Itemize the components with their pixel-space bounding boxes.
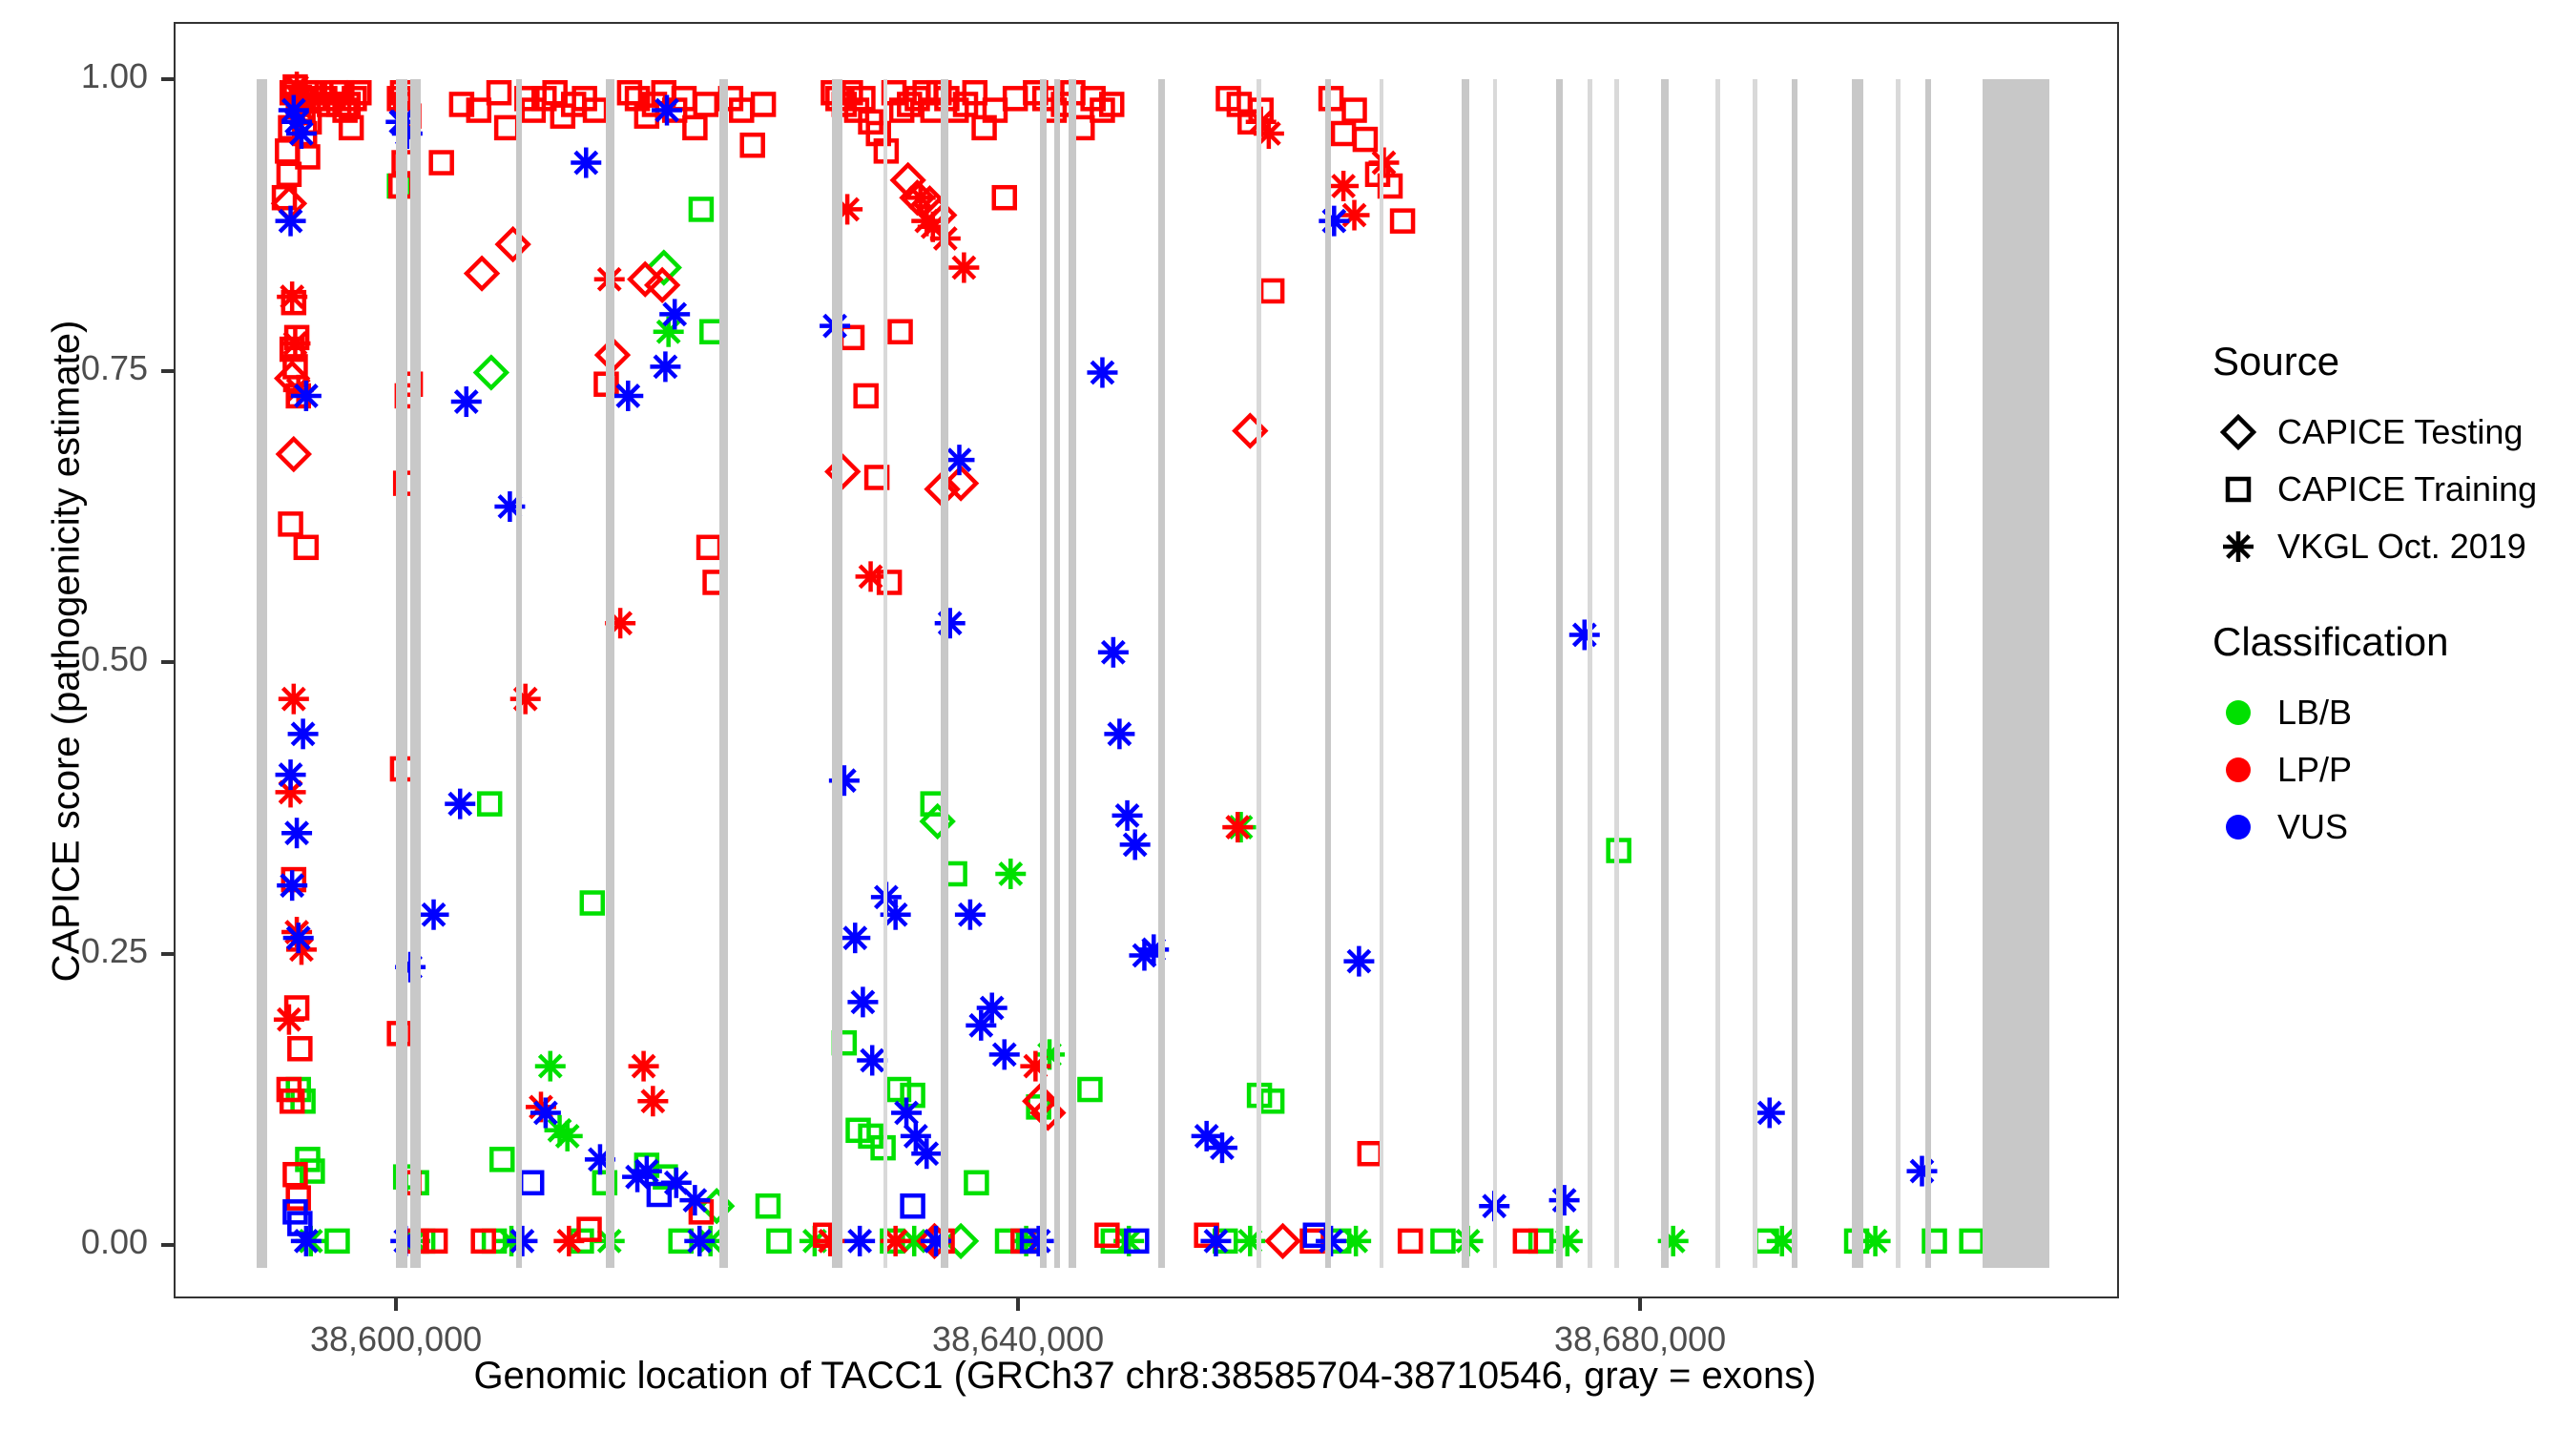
data-point-asterisk <box>1087 358 1117 388</box>
data-point-asterisk <box>1120 829 1151 860</box>
legend-item-source[interactable]: VKGL Oct. 2019 <box>2209 520 2571 573</box>
data-point-square <box>684 117 705 138</box>
data-point-asterisk <box>844 1226 875 1256</box>
exon-gridline <box>1588 79 1592 1268</box>
data-point-asterisk <box>1222 812 1253 842</box>
data-point-asterisk <box>1207 1132 1237 1163</box>
data-point-asterisk <box>637 1086 668 1116</box>
legend-classification-items: LB/BLP/PVUS <box>2209 686 2571 854</box>
data-point-asterisk <box>989 1039 1020 1069</box>
exon-bar <box>832 79 842 1268</box>
data-point-asterisk <box>944 445 974 475</box>
legend-classification-label: VUS <box>2277 807 2348 847</box>
y-axis-label: CAPICE score (pathogenicity estimate) <box>46 89 89 1214</box>
data-point-asterisk <box>847 986 878 1017</box>
exon-bar <box>396 79 406 1268</box>
legend-swatch <box>2226 815 2251 840</box>
exon-gridline <box>1257 79 1261 1268</box>
data-point-asterisk <box>948 253 979 283</box>
legend-swatch <box>2226 700 2251 725</box>
data-point-square <box>1344 100 1365 121</box>
exon-bar <box>1792 79 1798 1268</box>
data-point-asterisk <box>507 1226 537 1256</box>
asterisk-icon <box>2212 520 2265 573</box>
data-point-asterisk <box>1104 718 1134 749</box>
data-point-asterisk <box>1860 1226 1891 1256</box>
x-tick-label: 38,600,000 <box>243 1319 549 1359</box>
data-point-square <box>1392 211 1413 232</box>
legend-swatch <box>2226 757 2251 782</box>
exon-bar <box>257 79 267 1268</box>
exon-bar <box>1983 79 2049 1268</box>
data-point-square <box>289 1038 310 1059</box>
data-point-square <box>491 1149 512 1170</box>
x-tick-label: 38,680,000 <box>1487 1319 1793 1359</box>
y-tick-mark <box>161 1243 174 1247</box>
data-point-square <box>326 1231 347 1252</box>
data-point-asterisk <box>1343 946 1374 977</box>
data-point-square <box>1079 1079 1100 1100</box>
data-marks-layer <box>176 24 2117 1296</box>
data-point-square <box>903 1195 924 1216</box>
legend-source-label: CAPICE Training <box>2277 469 2537 509</box>
x-tick-label: 38,640,000 <box>865 1319 1171 1359</box>
legend-item-classification[interactable]: VUS <box>2209 800 2571 854</box>
data-point-asterisk <box>276 759 306 790</box>
data-point-asterisk <box>286 118 317 149</box>
data-point-diamond <box>476 358 507 388</box>
data-point-asterisk <box>1316 1226 1346 1256</box>
legend-item-classification[interactable]: LP/P <box>2209 743 2571 797</box>
legend-source-items: CAPICE TestingCAPICE TrainingVKGL Oct. 2… <box>2209 405 2571 573</box>
data-point-asterisk <box>291 381 322 411</box>
exon-bar <box>1852 79 1862 1268</box>
data-point-asterisk <box>274 1005 304 1035</box>
y-tick-label: 0.00 <box>5 1222 148 1262</box>
data-point-asterisk <box>1328 171 1359 201</box>
data-point-square <box>768 1231 789 1252</box>
data-point-asterisk <box>1549 1185 1580 1215</box>
data-point-asterisk <box>650 351 680 382</box>
exon-gridline <box>1896 79 1901 1268</box>
y-tick-mark <box>161 369 174 373</box>
data-point-square <box>1515 1231 1536 1252</box>
data-point-asterisk <box>279 684 309 715</box>
exon-gridline <box>1380 79 1384 1268</box>
square-icon <box>2212 463 2265 516</box>
data-point-asterisk <box>571 148 601 178</box>
data-point-square <box>488 82 509 103</box>
legend-classification-label: LB/B <box>2277 693 2352 733</box>
exon-bar <box>1040 79 1047 1268</box>
data-point-square <box>1005 88 1026 109</box>
data-point-square <box>698 537 719 558</box>
data-point-square <box>1261 280 1282 301</box>
data-point-diamond <box>498 229 529 259</box>
asterisk-icon <box>2209 520 2268 573</box>
data-point-diamond <box>467 259 497 289</box>
data-point-asterisk <box>840 923 870 953</box>
data-point-square <box>1333 123 1354 144</box>
legend-classification-title: Classification <box>2212 619 2571 665</box>
data-point-asterisk <box>280 328 310 359</box>
data-point-asterisk <box>288 718 319 749</box>
data-point-square <box>619 82 640 103</box>
x-tick-mark <box>1638 1298 1642 1311</box>
data-point-square <box>1355 129 1376 150</box>
data-point-square <box>582 893 603 914</box>
data-point-asterisk <box>2223 531 2254 562</box>
data-point-asterisk <box>1755 1097 1785 1128</box>
data-point-asterisk <box>553 1226 584 1256</box>
exon-bar <box>1925 79 1932 1268</box>
data-point-diamond <box>279 439 309 469</box>
data-point-asterisk <box>277 870 307 901</box>
exon-bar <box>1556 79 1563 1268</box>
y-tick-mark <box>161 952 174 956</box>
exon-bar <box>606 79 613 1268</box>
data-point-square <box>856 385 877 406</box>
data-point-asterisk <box>905 182 936 213</box>
data-point-diamond <box>2223 417 2254 447</box>
data-point-asterisk <box>911 1138 942 1169</box>
exon-bar <box>1661 79 1669 1268</box>
exon-bar <box>1054 79 1061 1268</box>
data-point-diamond <box>1268 1226 1298 1256</box>
data-point-asterisk <box>291 1226 322 1256</box>
data-point-asterisk <box>552 1121 583 1151</box>
data-point-asterisk <box>1098 637 1129 668</box>
data-point-square <box>1609 840 1630 861</box>
y-tick-mark <box>161 660 174 664</box>
data-point-asterisk <box>652 95 682 126</box>
data-point-square <box>753 93 774 114</box>
x-tick-mark <box>1016 1298 1020 1311</box>
data-point-asterisk <box>445 789 475 819</box>
legend-item-source[interactable]: CAPICE Testing <box>2209 405 2571 459</box>
data-point-asterisk <box>419 900 449 930</box>
data-point-square <box>691 198 712 219</box>
data-point-square <box>1400 1231 1421 1252</box>
data-point-asterisk <box>1906 1156 1937 1187</box>
data-point-square <box>2228 479 2249 500</box>
exon-gridline <box>1753 79 1757 1268</box>
color-dot-icon <box>2209 815 2268 840</box>
legend-source-title: Source <box>2212 339 2571 384</box>
data-point-square <box>479 794 500 815</box>
square-icon <box>2209 463 2268 516</box>
x-tick-mark <box>394 1298 398 1311</box>
data-point-square <box>890 321 911 342</box>
data-point-asterisk <box>659 299 690 329</box>
data-point-square <box>758 1195 779 1216</box>
plot-panel <box>174 22 2119 1298</box>
exon-gridline <box>883 79 888 1268</box>
data-point-square <box>296 537 317 558</box>
exon-bar <box>1325 79 1332 1268</box>
plot-root: 0.000.250.500.751.00 38,600,00038,640,00… <box>0 0 2576 1431</box>
exon-gridline <box>1493 79 1498 1268</box>
color-dot-icon <box>2209 700 2268 725</box>
data-point-asterisk <box>856 561 886 591</box>
legend-source-label: VKGL Oct. 2019 <box>2277 527 2526 567</box>
data-point-square <box>742 135 763 156</box>
legend-item-classification[interactable]: LB/B <box>2209 686 2571 739</box>
data-point-square <box>1962 1231 1983 1252</box>
y-tick-mark <box>161 77 174 81</box>
data-point-square <box>966 1172 987 1193</box>
data-point-asterisk <box>1340 200 1370 231</box>
exon-bar <box>516 79 523 1268</box>
data-point-square <box>1360 1143 1381 1164</box>
data-point-square <box>1432 1231 1453 1252</box>
legend-classification-label: LP/P <box>2277 750 2352 790</box>
exon-bar <box>1069 79 1076 1268</box>
exon-gridline <box>1614 79 1619 1268</box>
data-point-asterisk <box>1200 1226 1231 1256</box>
data-point-asterisk <box>530 1097 561 1128</box>
data-point-square <box>496 117 517 138</box>
data-point-asterisk <box>1112 800 1143 831</box>
data-point-square <box>994 187 1015 208</box>
data-point-asterisk <box>995 859 1026 889</box>
data-point-asterisk <box>977 992 1008 1023</box>
legend-source-label: CAPICE Testing <box>2277 412 2523 452</box>
exon-bar <box>410 79 421 1268</box>
data-point-square <box>1320 88 1341 109</box>
exon-bar <box>719 79 727 1268</box>
data-point-square <box>521 1172 542 1193</box>
data-point-asterisk <box>629 1051 659 1082</box>
data-point-square <box>696 93 717 114</box>
diamond-icon <box>2209 405 2268 459</box>
legend-item-source[interactable]: CAPICE Training <box>2209 463 2571 516</box>
data-point-asterisk <box>535 1051 566 1082</box>
legend: Source CAPICE TestingCAPICE TrainingVKGL… <box>2209 339 2571 858</box>
data-point-square <box>888 1079 909 1100</box>
data-point-square <box>431 153 452 174</box>
data-point-asterisk <box>281 818 312 848</box>
x-axis-label: Genomic location of TACC1 (GRCh37 chr8:3… <box>0 1355 2290 1398</box>
color-dot-icon <box>2209 757 2268 782</box>
data-point-asterisk <box>684 1226 715 1256</box>
exon-bar <box>1158 79 1165 1268</box>
exon-bar <box>1462 79 1469 1268</box>
data-point-asterisk <box>276 206 306 237</box>
plot-area <box>176 24 2117 1296</box>
data-point-asterisk <box>510 684 541 715</box>
data-point-asterisk <box>1319 206 1349 237</box>
data-point-asterisk <box>679 1185 710 1215</box>
data-point-asterisk <box>935 608 966 638</box>
data-point-asterisk <box>277 281 307 312</box>
diamond-icon <box>2212 405 2265 459</box>
data-point-asterisk <box>1569 619 1600 650</box>
exon-bar <box>941 79 948 1268</box>
data-point-square <box>280 513 301 534</box>
data-point-asterisk <box>613 381 643 411</box>
data-point-asterisk <box>1368 148 1399 178</box>
data-point-asterisk <box>283 923 314 953</box>
data-point-asterisk <box>955 900 986 930</box>
data-point-asterisk <box>632 1156 662 1187</box>
data-point-asterisk <box>451 386 482 417</box>
data-point-square <box>1530 1231 1551 1252</box>
data-point-asterisk <box>1024 1226 1054 1256</box>
exon-gridline <box>1715 79 1720 1268</box>
